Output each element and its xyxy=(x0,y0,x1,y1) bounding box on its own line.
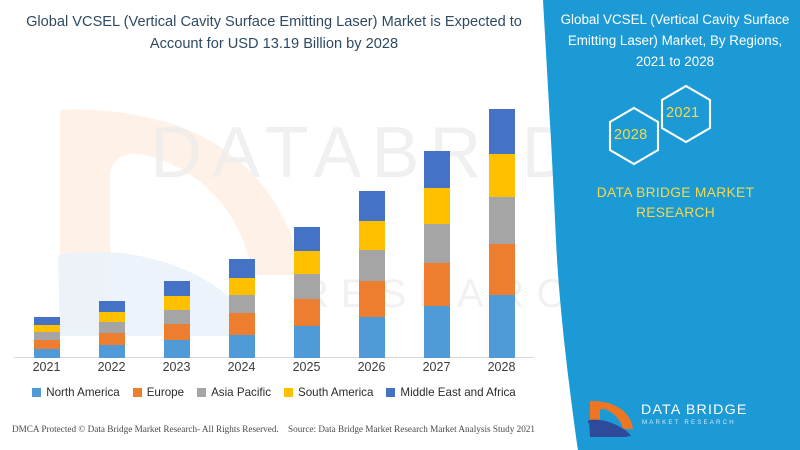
hex-label-2021: 2021 xyxy=(666,105,699,121)
bar-segment xyxy=(489,109,515,154)
logo-tagline: MARKET RESEARCH xyxy=(642,419,736,426)
bar-segment xyxy=(99,322,125,333)
x-axis-tick-labels: 20212022202320242025202620272028 xyxy=(14,360,534,380)
bar-segment xyxy=(34,340,60,349)
chart-legend: North AmericaEuropeAsia PacificSouth Ame… xyxy=(0,386,548,399)
bar-segment xyxy=(229,259,255,278)
x-tick-2023: 2023 xyxy=(147,360,207,374)
infographic-slide: DATABRIDGE RESEARCH Global VCSEL (Vertic… xyxy=(0,0,800,450)
legend-label: South America xyxy=(298,386,373,399)
bar-segment xyxy=(99,301,125,312)
hex-label-2028: 2028 xyxy=(614,127,647,143)
bar-2021 xyxy=(34,317,60,358)
bar-segment xyxy=(424,306,450,358)
stacked-bar-chart xyxy=(14,100,534,358)
bar-segment xyxy=(294,274,320,299)
bar-segment xyxy=(164,310,190,324)
x-tick-2021: 2021 xyxy=(17,360,77,374)
x-tick-2024: 2024 xyxy=(212,360,272,374)
bar-2022 xyxy=(99,301,125,358)
bar-segment xyxy=(164,281,190,296)
legend-swatch-icon xyxy=(133,388,142,397)
bar-segment xyxy=(34,349,60,358)
data-bridge-logo-icon xyxy=(584,398,640,438)
footer: DMCA Protected © Data Bridge Market Rese… xyxy=(0,424,548,446)
legend-label: Middle East and Africa xyxy=(400,386,515,399)
bar-segment xyxy=(294,299,320,326)
brand-line-2: RESEARCH xyxy=(568,203,783,223)
legend-swatch-icon xyxy=(386,388,395,397)
x-axis-line xyxy=(14,357,534,358)
legend-swatch-icon xyxy=(284,388,293,397)
bar-2026 xyxy=(359,191,385,358)
legend-item[interactable]: Middle East and Africa xyxy=(386,386,515,399)
bar-2025 xyxy=(294,227,320,358)
bar-segment xyxy=(164,340,190,358)
x-tick-2028: 2028 xyxy=(472,360,532,374)
hexagon-outline-icon xyxy=(578,82,788,177)
brand-name: DATA BRIDGE MARKET RESEARCH xyxy=(568,183,783,223)
bar-segment xyxy=(424,224,450,263)
legend-item[interactable]: South America xyxy=(284,386,373,399)
bar-segment xyxy=(229,335,255,358)
bar-segment xyxy=(489,154,515,197)
legend-swatch-icon xyxy=(32,388,41,397)
bar-segment xyxy=(424,151,450,189)
brand-line-1: DATA BRIDGE MARKET xyxy=(568,183,783,203)
bar-2027 xyxy=(424,151,450,358)
logo-wordmark: DATA BRIDGE xyxy=(641,402,747,418)
chart-panel: Global VCSEL (Vertical Cavity Surface Em… xyxy=(0,0,560,450)
bar-segment xyxy=(34,332,60,340)
bar-segment xyxy=(34,317,60,326)
legend-label: North America xyxy=(46,386,119,399)
bar-segment xyxy=(229,295,255,314)
blue-panel-content: Global VCSEL (Vertical Cavity Surface Em… xyxy=(560,0,800,450)
bar-segment xyxy=(489,197,515,244)
bar-segment xyxy=(359,317,385,358)
bar-2028 xyxy=(489,109,515,358)
bar-segment xyxy=(99,345,125,358)
hexagon-badges: 2028 2021 xyxy=(578,82,788,177)
bar-segment xyxy=(489,295,515,358)
bar-segment xyxy=(294,326,320,358)
bar-segment xyxy=(424,188,450,224)
bar-segment xyxy=(294,227,320,251)
legend-item[interactable]: Europe xyxy=(133,386,184,399)
bar-segment xyxy=(359,221,385,250)
bar-2023 xyxy=(164,281,190,358)
legend-label: Europe xyxy=(147,386,184,399)
x-tick-2026: 2026 xyxy=(342,360,402,374)
legend-item[interactable]: Asia Pacific xyxy=(197,386,271,399)
bar-segment xyxy=(164,324,190,340)
bar-segment xyxy=(164,296,190,309)
bar-segment xyxy=(359,281,385,316)
bar-segment xyxy=(424,263,450,306)
bar-segment xyxy=(294,251,320,274)
bar-segment xyxy=(229,313,255,334)
panel-title: Global VCSEL (Vertical Cavity Surface Em… xyxy=(556,10,794,72)
footer-source: Source: Data Bridge Market Research Mark… xyxy=(288,424,535,434)
page-title: Global VCSEL (Vertical Cavity Surface Em… xyxy=(16,12,532,56)
x-tick-2027: 2027 xyxy=(407,360,467,374)
legend-label: Asia Pacific xyxy=(211,386,271,399)
bar-segment xyxy=(359,250,385,281)
bar-segment xyxy=(229,278,255,295)
bar-segment xyxy=(99,312,125,322)
bar-2024 xyxy=(229,259,255,358)
x-tick-2025: 2025 xyxy=(277,360,337,374)
x-tick-2022: 2022 xyxy=(82,360,142,374)
bar-segment xyxy=(489,244,515,296)
bar-segment xyxy=(99,333,125,345)
bar-segment xyxy=(34,325,60,332)
legend-swatch-icon xyxy=(197,388,206,397)
bar-segment xyxy=(359,191,385,221)
legend-item[interactable]: North America xyxy=(32,386,119,399)
footer-copyright: DMCA Protected © Data Bridge Market Rese… xyxy=(12,424,279,434)
company-logo: DATA BRIDGE MARKET RESEARCH xyxy=(584,398,784,442)
